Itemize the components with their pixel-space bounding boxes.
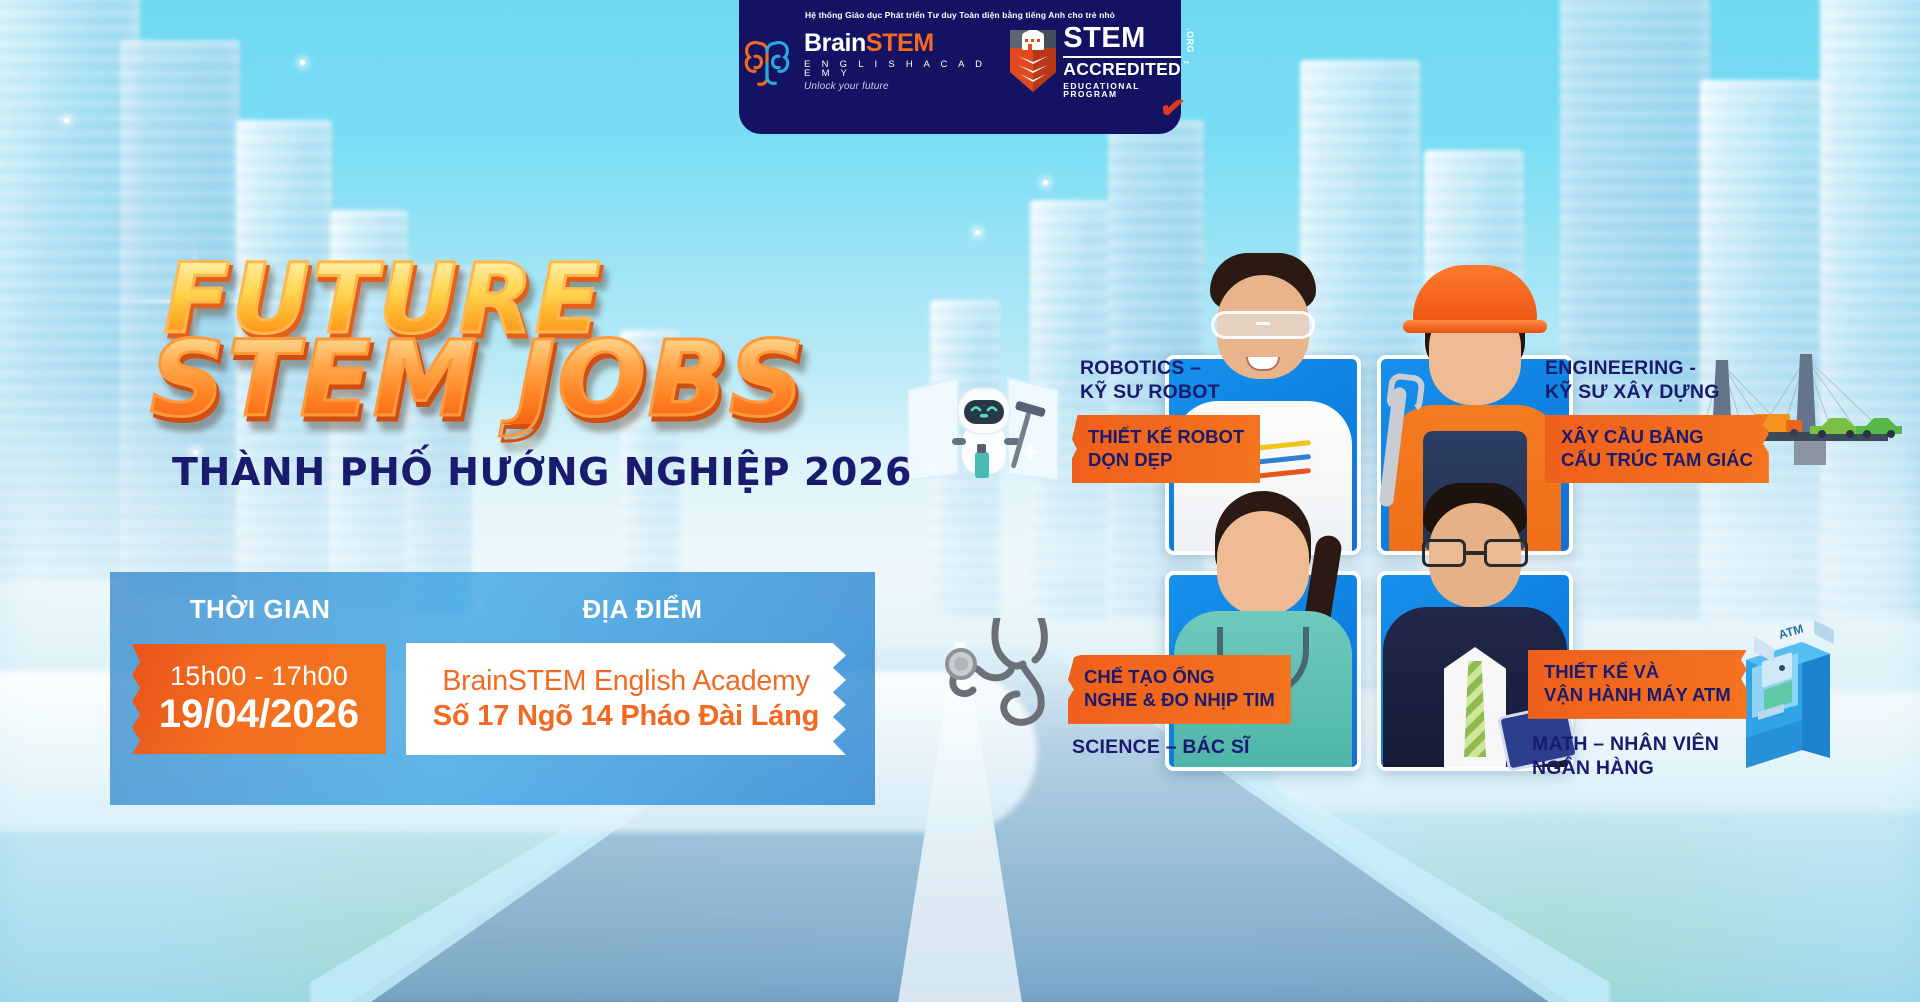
label-robotics-title: ROBOTICS – KỸ SƯ ROBOT [1080,357,1260,405]
venue-address: Số 17 Ngõ 14 Pháo Đài Láng [433,700,819,733]
date-badge: 15h00 - 17h00 19/04/2026 [132,644,386,754]
sparkle [1043,180,1048,185]
brainstem-logo: BrainSTEM E N G L I S H A C A D E M Y Un… [739,31,994,92]
label-engineering: ENGINEERING - KỸ SƯ XÂY DỰNG XÂY CẦU BẰN… [1545,357,1769,483]
hard-hat-icon [1413,265,1537,327]
place-heading: ĐỊA ĐIỂM [410,594,875,625]
label-engineering-title: ENGINEERING - KỸ SƯ XÂY DỰNG [1545,357,1769,405]
brand-subtitle: E N G L I S H A C A D E M Y [804,60,994,79]
sparkle [975,230,980,235]
shield-icon [1010,30,1056,92]
time-heading: THỜI GIAN [110,594,410,625]
stethoscope-icon [925,618,1085,763]
event-info-panel: THỜI GIAN ĐỊA ĐIỂM 15h00 - 17h00 19/04/2… [110,572,875,805]
eyeglasses-icon [1422,539,1528,567]
academy-tagline: Hệ thống Giáo dục Phát triển Tư duy Toàn… [805,10,1115,20]
safety-goggles-icon [1211,311,1315,339]
sparkle [300,60,305,65]
date-value: 19/04/2026 [159,693,359,735]
label-science-title: SCIENCE – BÁC SĨ [1072,736,1291,760]
stem-accredited-badge: STEM.ORG ACCREDITED™ EDUCATIONAL PROGRAM… [1010,24,1181,99]
accreditation-status-text: ACCREDITED™ [1063,61,1181,79]
brand-name: BrainSTEM [804,31,994,56]
cleaning-robot-icon [900,368,1065,503]
sparkle [64,118,69,123]
check-icon: ✔ [1158,89,1188,127]
venue-card: BrainSTEM English Academy Số 17 Ngõ 14 P… [406,643,846,755]
label-science: CHẾ TẠO ỐNG NGHE & ĐO NHỊP TIM SCIENCE –… [1068,655,1291,760]
brain-icon [739,36,795,86]
brand-slogan: Unlock your future [804,82,994,92]
title-line-2: STEM JOBS [150,335,912,424]
label-robotics-tag: THIẾT KẾ ROBOT DỌN DẸP [1072,415,1260,484]
label-math-title: MATH – NHÂN VIÊN NGÂN HÀNG [1532,733,1747,781]
poster-canvas: Hệ thống Giáo dục Phát triển Tư duy Toàn… [0,0,1920,1002]
logo-bar: Hệ thống Giáo dục Phát triển Tư duy Toàn… [739,0,1181,134]
label-robotics: ROBOTICS – KỸ SƯ ROBOT THIẾT KẾ ROBOT DỌ… [1080,357,1260,483]
divider [1063,56,1181,58]
label-science-tag: CHẾ TẠO ỐNG NGHE & ĐO NHỊP TIM [1068,655,1291,724]
label-math-tag: THIẾT KẾ VÀ VẬN HÀNH MÁY ATM [1528,650,1747,719]
time-value: 15h00 - 17h00 [170,663,348,690]
hero-title-block: FUTURE STEM JOBS THÀNH PHỐ HƯỚNG NGHIỆP … [150,258,912,494]
label-engineering-tag: XÂY CẦU BẰNG CẤU TRÚC TAM GIÁC [1545,415,1769,484]
venue-name: BrainSTEM English Academy [442,665,809,698]
accreditation-stem-text: STEM.ORG [1063,24,1181,53]
label-math: THIẾT KẾ VÀ VẬN HÀNH MÁY ATM MATH – NHÂN… [1528,650,1747,780]
hero-subtitle: THÀNH PHỐ HƯỚNG NGHIỆP 2026 [172,450,912,494]
